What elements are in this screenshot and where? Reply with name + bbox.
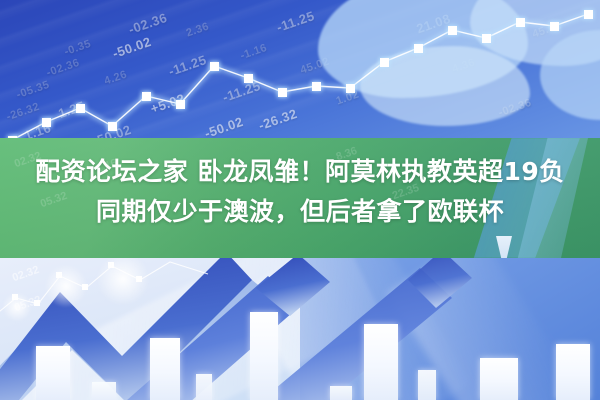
- chart-bar: [480, 358, 518, 400]
- chart-bar: [556, 344, 590, 400]
- chart-bar: [36, 346, 70, 400]
- headline-text-block: 配资论坛之家 卧龙凤雏！阿莫林执教英超19负 同期仅少于澳波，但后者拿了欧联杯: [0, 152, 600, 232]
- bottom-scene: 02.32 05.32: [0, 258, 600, 400]
- chart-bar: [92, 382, 116, 400]
- headline-line-2: 同期仅少于澳波，但后者拿了欧联杯: [0, 192, 600, 232]
- chart-bar: [150, 338, 180, 400]
- chart-bar: [418, 370, 436, 400]
- chart-bar: [364, 324, 398, 400]
- chart-bar: [330, 386, 352, 400]
- headline-line-1: 配资论坛之家 卧龙凤雏！阿莫林执教英超19负: [0, 152, 600, 192]
- news-banner-image: -26.32 -05.35 1.16 -02.36 1.25 -0.35 -50…: [0, 0, 600, 400]
- light-glow: [44, 264, 88, 308]
- chart-bar: [250, 312, 278, 400]
- chart-bar: [196, 374, 212, 400]
